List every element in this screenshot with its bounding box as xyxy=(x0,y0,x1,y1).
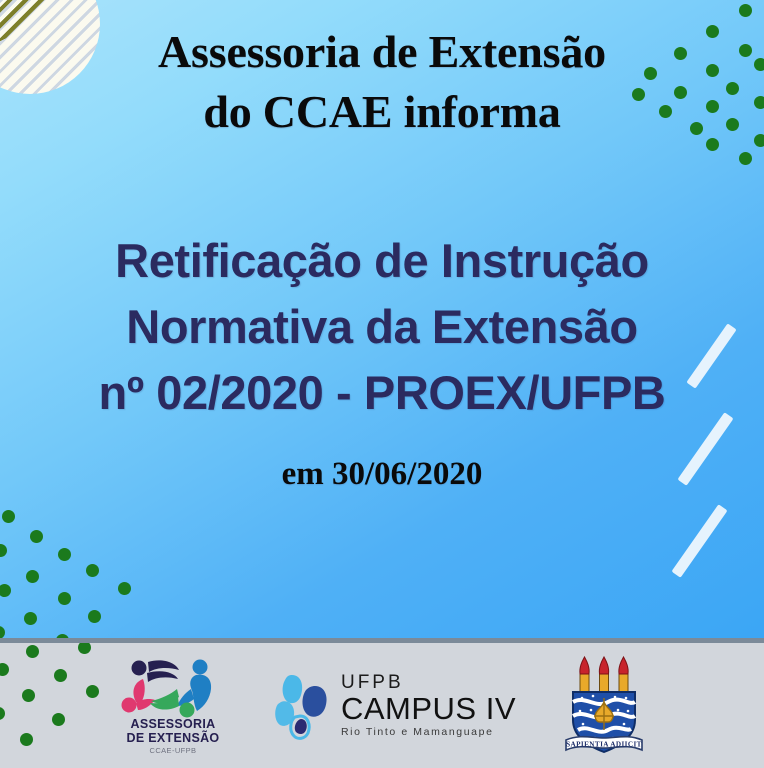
message-line-3: nº 02/2020 - PROEX/UFPB xyxy=(0,360,764,426)
page-title: Assessoria de Extensão do CCAE informa xyxy=(0,22,764,142)
dot-cluster-footer-decoration xyxy=(0,643,120,768)
logo-campus-wordmark: UFPB CAMPUS IV Rio Tinto e Mamanguape xyxy=(341,673,516,738)
message-line-2: Normativa da Extensão xyxy=(0,294,764,360)
poster: Assessoria de Extensão do CCAE informa R… xyxy=(0,0,764,768)
logo-ufpb-campus-iv: UFPB CAMPUS IV Rio Tinto e Mamanguape xyxy=(274,671,516,741)
logo-assessoria-name-line-3: CCAE-UFPB xyxy=(114,746,232,755)
ufpb-crest-icon: SAPIENTIA ADIICIT xyxy=(558,654,650,758)
headline-line-2: do CCAE informa xyxy=(0,82,764,142)
campus-leaves-icon xyxy=(274,671,332,741)
announcement-message: Retificação de Instrução Normativa da Ex… xyxy=(0,228,764,425)
logo-campus-cities-text: Rio Tinto e Mamanguape xyxy=(341,727,516,738)
footer-logo-bar: ASSESSORIA DE EXTENSÃO CCAE-UFPB UFPB CA… xyxy=(0,643,764,768)
logo-assessoria-name-line-1: ASSESSORIA xyxy=(114,718,232,731)
people-circle-icon xyxy=(117,656,229,718)
announcement-date: em 30/06/2020 xyxy=(0,456,764,493)
logo-assessoria-de-extensao: ASSESSORIA DE EXTENSÃO CCAE-UFPB xyxy=(114,656,232,755)
logo-campus-ufpb-text: UFPB xyxy=(341,673,516,692)
poster-background: Assessoria de Extensão do CCAE informa R… xyxy=(0,0,764,640)
logo-ufpb-coat-of-arms: SAPIENTIA ADIICIT xyxy=(558,654,650,758)
diagonal-slash-decoration-3 xyxy=(671,504,727,577)
dot-cluster-bottom-left-decoration xyxy=(0,492,130,640)
headline-line-1: Assessoria de Extensão xyxy=(0,22,764,82)
crest-motto-text: SAPIENTIA ADIICIT xyxy=(566,740,642,748)
message-line-1: Retificação de Instrução xyxy=(0,228,764,294)
logo-campus-campus-text: CAMPUS IV xyxy=(341,693,516,724)
logo-assessoria-name-line-2: DE EXTENSÃO xyxy=(114,732,232,745)
